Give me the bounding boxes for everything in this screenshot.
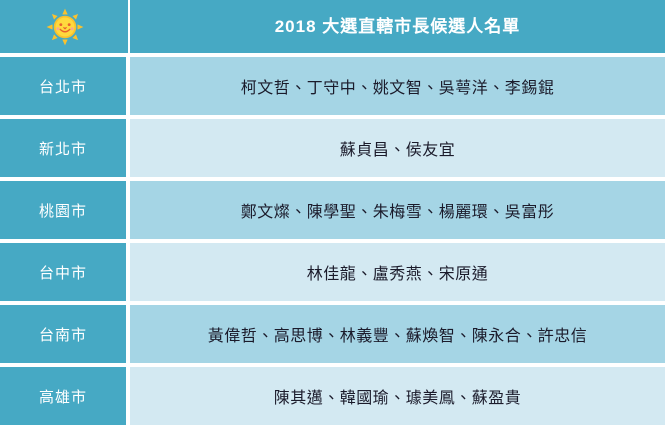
- city-cell: 台中市: [0, 239, 130, 301]
- candidates-cell: 鄭文燦、陳學聖、朱梅雪、楊麗環、吳富彤: [130, 177, 665, 239]
- candidates-label: 蘇貞昌、侯友宜: [340, 142, 456, 159]
- candidates-cell: 林佳龍、盧秀燕、宋原通: [130, 239, 665, 301]
- city-cell: 台北市: [0, 53, 130, 115]
- candidates-cell: 陳其邁、韓國瑜、璩美鳳、蘇盈貴: [130, 363, 665, 425]
- table-header-row: 2018 大選直轄市長候選人名單: [0, 0, 665, 53]
- election-candidate-table: 2018 大選直轄市長候選人名單 台北市 柯文哲、丁守中、姚文智、吳萼洋、李錫錕…: [0, 0, 665, 425]
- table-row: 台北市 柯文哲、丁守中、姚文智、吳萼洋、李錫錕: [0, 53, 665, 115]
- city-label: 新北市: [39, 141, 87, 158]
- city-label: 台南市: [39, 327, 87, 344]
- logo-cell: [0, 0, 130, 53]
- table-row: 台南市 黃偉哲、高思博、林義豐、蘇煥智、陳永合、許忠信: [0, 301, 665, 363]
- candidates-cell: 黃偉哲、高思博、林義豐、蘇煥智、陳永合、許忠信: [130, 301, 665, 363]
- candidates-label: 鄭文燦、陳學聖、朱梅雪、楊麗環、吳富彤: [241, 204, 555, 221]
- city-cell: 台南市: [0, 301, 130, 363]
- election-candidate-table-container: 2018 大選直轄市長候選人名單 台北市 柯文哲、丁守中、姚文智、吳萼洋、李錫錕…: [0, 0, 669, 417]
- candidates-cell: 柯文哲、丁守中、姚文智、吳萼洋、李錫錕: [130, 53, 665, 115]
- page-title: 2018 大選直轄市長候選人名單: [275, 17, 521, 36]
- city-label: 桃園市: [39, 203, 87, 220]
- city-label: 台北市: [39, 79, 87, 96]
- city-label: 高雄市: [39, 389, 87, 406]
- city-cell: 高雄市: [0, 363, 130, 425]
- sun-icon: [46, 8, 84, 46]
- city-cell: 桃園市: [0, 177, 130, 239]
- table-row: 新北市 蘇貞昌、侯友宜: [0, 115, 665, 177]
- candidates-label: 柯文哲、丁守中、姚文智、吳萼洋、李錫錕: [241, 80, 555, 97]
- candidates-label: 黃偉哲、高思博、林義豐、蘇煥智、陳永合、許忠信: [208, 328, 588, 345]
- table-row: 高雄市 陳其邁、韓國瑜、璩美鳳、蘇盈貴: [0, 363, 665, 425]
- candidates-cell: 蘇貞昌、侯友宜: [130, 115, 665, 177]
- candidates-label: 陳其邁、韓國瑜、璩美鳳、蘇盈貴: [274, 390, 522, 407]
- city-cell: 新北市: [0, 115, 130, 177]
- table-row: 桃園市 鄭文燦、陳學聖、朱梅雪、楊麗環、吳富彤: [0, 177, 665, 239]
- table-row: 台中市 林佳龍、盧秀燕、宋原通: [0, 239, 665, 301]
- candidates-label: 林佳龍、盧秀燕、宋原通: [307, 266, 489, 283]
- table-title-cell: 2018 大選直轄市長候選人名單: [130, 0, 665, 53]
- city-label: 台中市: [39, 265, 87, 282]
